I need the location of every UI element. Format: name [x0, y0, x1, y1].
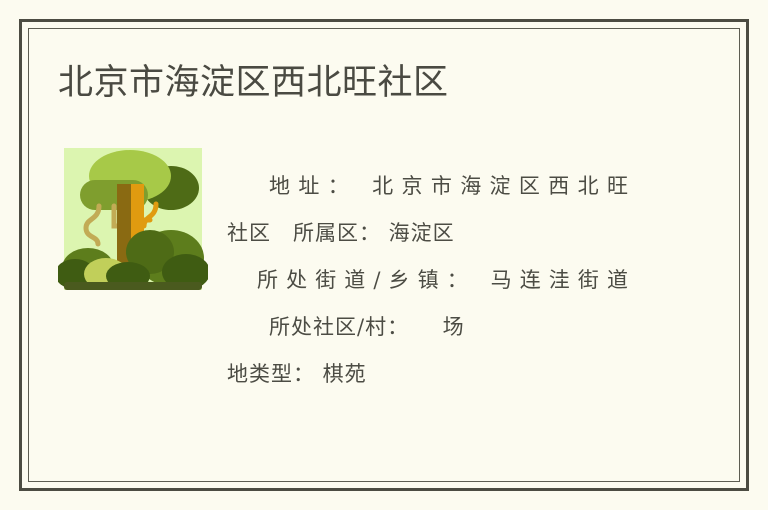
detail-line-district: 社区 所属区： 海淀区 [227, 210, 629, 257]
page-title: 北京市海淀区西北旺社区 [58, 61, 449, 105]
detail-line-community: 所处社区/村： 场 [227, 304, 629, 351]
ground-line [64, 282, 202, 290]
detail-line-street: 所处街道/乡镇： 马连洼街道 [227, 257, 629, 304]
document-page: 北京市海淀区西北旺社区 [0, 0, 768, 510]
detail-text-block: 地址： 北京市海淀区西北旺 社区 所属区： 海淀区 所处街道/乡镇： 马连洼街道… [227, 163, 629, 398]
detail-line-landtype: 地类型： 棋苑 [227, 351, 629, 398]
jungle-tree-illustration [58, 148, 208, 298]
tree-icon [58, 148, 208, 298]
detail-line-address: 地址： 北京市海淀区西北旺 [227, 163, 629, 210]
